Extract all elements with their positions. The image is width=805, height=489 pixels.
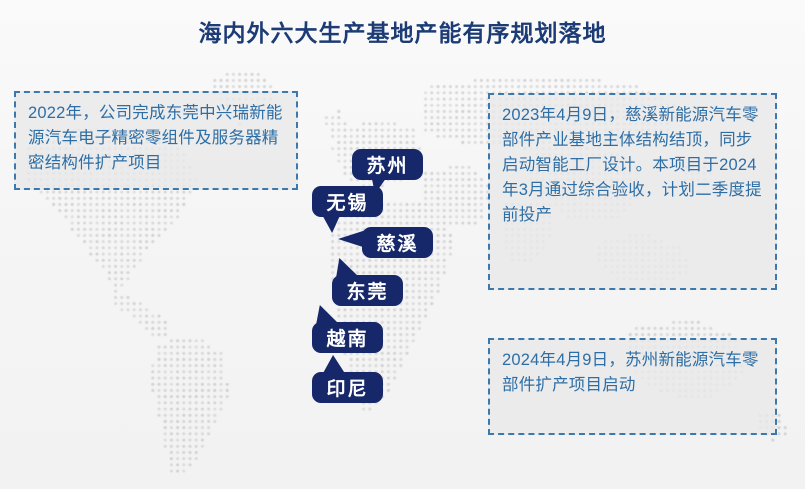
callout-dongguan[interactable]: 东莞 [332, 275, 403, 306]
callout-label: 苏州 [366, 151, 408, 178]
callout-wuxi[interactable]: 无锡 [312, 186, 383, 217]
callout-label: 东莞 [346, 277, 388, 304]
info-panel-cixi-2023: 2023年4月9日，慈溪新能源汽车零部件产业基地主体结构结顶，同步启动智能工厂设… [488, 93, 777, 290]
callout-yinni[interactable]: 印尼 [312, 372, 383, 403]
slide-canvas: 海内外六大生产基地产能有序规划落地 2022年，公司完成东莞中兴瑞新能源汽车电子… [0, 0, 805, 489]
page-title: 海内外六大生产基地产能有序规划落地 [0, 14, 805, 48]
callout-suzhou[interactable]: 苏州 [352, 149, 423, 180]
info-panel-text: 2023年4月9日，慈溪新能源汽车零部件产业基地主体结构结顶，同步启动智能工厂设… [502, 103, 765, 228]
callout-label: 印尼 [326, 374, 368, 401]
callout-yuenan[interactable]: 越南 [312, 322, 383, 353]
info-panel-dongguan-2022: 2022年，公司完成东莞中兴瑞新能源汽车电子精密零组件及服务器精密结构件扩产项目 [14, 91, 298, 190]
callout-label: 慈溪 [376, 229, 418, 256]
info-panel-suzhou-2024: 2024年4月9日，苏州新能源汽车零部件扩产项目启动 [488, 338, 777, 435]
callout-label: 无锡 [326, 188, 368, 215]
info-panel-text: 2022年，公司完成东莞中兴瑞新能源汽车电子精密零组件及服务器精密结构件扩产项目 [28, 101, 286, 176]
info-panel-text: 2024年4月9日，苏州新能源汽车零部件扩产项目启动 [502, 348, 765, 398]
callout-label: 越南 [326, 324, 368, 351]
callout-cixi[interactable]: 慈溪 [362, 227, 433, 258]
